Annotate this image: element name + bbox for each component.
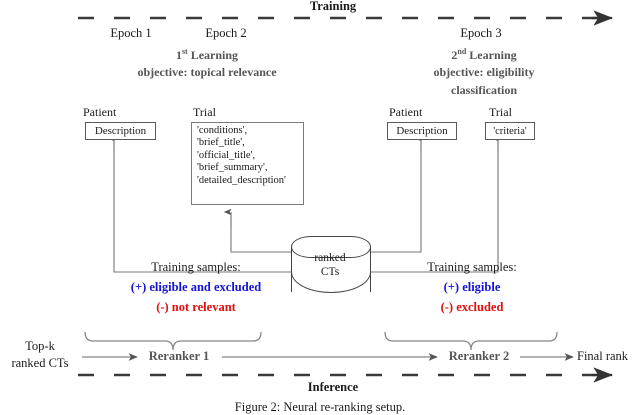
epoch-label-2: Epoch 2 [205, 27, 246, 40]
objective-2-line2: objective: eligibility [434, 66, 535, 79]
objective-2-ordinal-suffix: nd [457, 47, 466, 56]
objective-2-line1-rest: Learning [466, 48, 516, 62]
datastore-label: ranked CTs [291, 252, 369, 279]
stage1-trial-feed-line [231, 216, 291, 252]
figure-caption: Figure 2: Neural re-ranking setup. [0, 400, 640, 415]
datastore-label-line1: ranked [291, 252, 369, 266]
stage1-training-samples-title: Training samples: [151, 261, 240, 274]
stage2-patient-description-text: Description [396, 125, 447, 137]
reranker-1-node[interactable]: Reranker 1 [146, 350, 213, 363]
stage1-trial-field: 'official_title', [197, 150, 299, 162]
stage2-patient-feed-line [369, 142, 421, 252]
ranked-cts-datastore-icon: ranked CTs [291, 236, 369, 294]
stage2-patient-title: Patient [389, 106, 422, 119]
diagram-lines-layer [0, 0, 640, 414]
objective-1-line2: objective: topical relevance [137, 66, 276, 79]
inference-output-label: Final rank [577, 350, 628, 363]
brace-reranker1 [85, 332, 261, 350]
stage1-trial-fields-box: 'conditions', 'brief_title', 'official_t… [191, 122, 304, 205]
stage1-patient-description-box: Description [85, 122, 156, 140]
stage1-patient-title: Patient [83, 106, 116, 119]
inference-input-line1: Top-k [25, 340, 55, 353]
stage1-trial-field: 'conditions', [197, 125, 299, 137]
stage1-trial-title: Trial [193, 106, 216, 119]
figure-neural-reranking-setup: Training Epoch 1 Epoch 2 Epoch 3 1st Lea… [0, 0, 640, 414]
reranker-2-node[interactable]: Reranker 2 [446, 350, 513, 363]
stage2-negative-samples: (-) excluded [441, 301, 504, 314]
objective-1-line1-rest: Learning [188, 48, 238, 62]
objective-2-line1: 2nd Learning [451, 48, 516, 62]
objective-2-line3: classification [451, 84, 517, 97]
objective-1-line1: 1st Learning [176, 48, 238, 62]
stage2-trial-criteria-box: 'criteria' [485, 122, 535, 140]
stage1-patient-description-text: Description [95, 125, 146, 137]
epoch-label-3: Epoch 3 [460, 27, 501, 40]
stage1-trial-field: 'brief_summary', [197, 162, 299, 174]
inference-axis-label: Inference [308, 381, 358, 394]
stage2-trial-criteria-text: 'criteria' [493, 126, 527, 137]
datastore-label-line2: CTs [291, 266, 369, 280]
stage2-trial-title: Trial [489, 106, 512, 119]
epoch-label-1: Epoch 1 [110, 27, 151, 40]
brace-reranker2 [385, 332, 557, 350]
stage2-training-samples-title: Training samples: [427, 261, 516, 274]
stage1-positive-samples: (+) eligible and excluded [131, 281, 261, 294]
stage2-trial-feed-line-outer [369, 142, 498, 272]
stage1-negative-samples: (-) not relevant [156, 301, 236, 314]
training-axis-label: Training [310, 0, 356, 13]
inference-input-line2: ranked CTs [11, 357, 68, 370]
stage1-trial-field: 'detailed_description' [197, 175, 299, 187]
stage1-trial-field: 'brief_title', [197, 137, 299, 149]
stage2-patient-description-box: Description [387, 122, 457, 140]
stage2-positive-samples: (+) eligible [444, 281, 501, 294]
